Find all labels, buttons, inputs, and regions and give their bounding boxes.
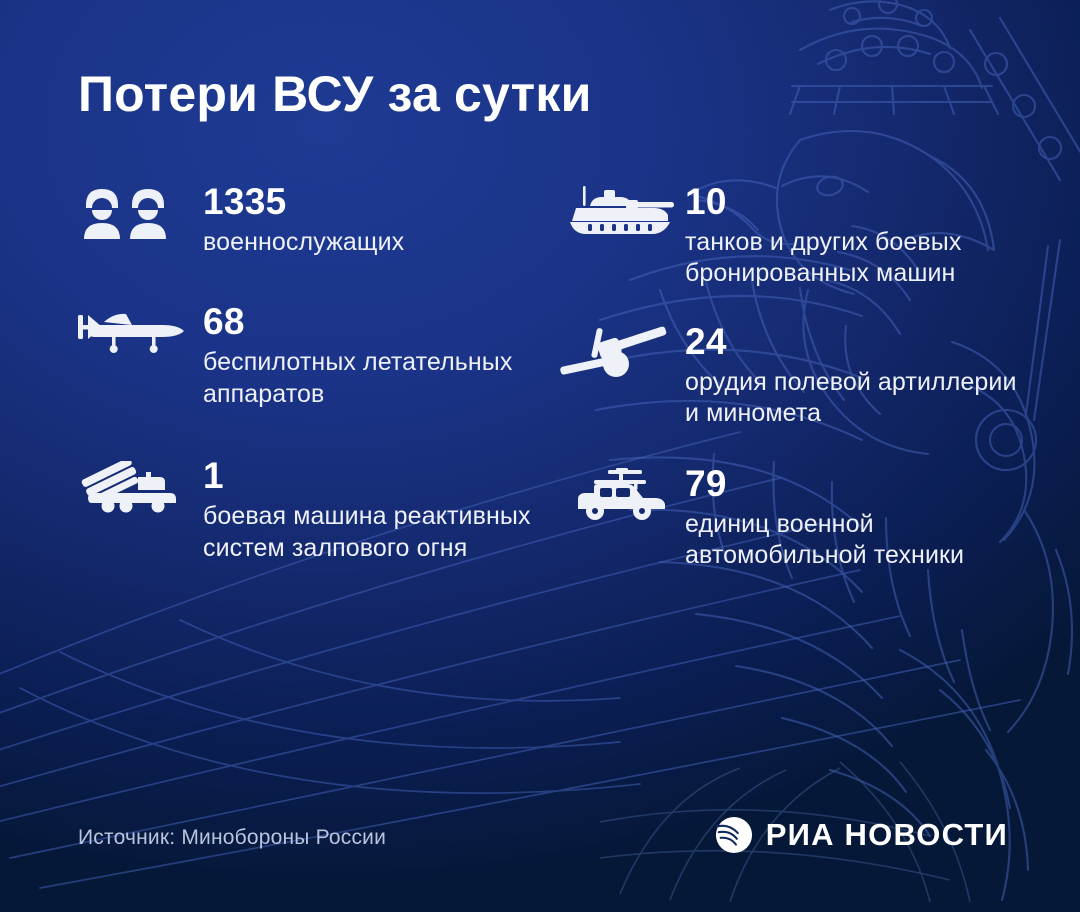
stat-label: военнослужащих	[203, 227, 548, 259]
page-title: Потери ВСУ за сутки	[78, 66, 592, 122]
stat-item-personnel: 1335 военнослужащих	[78, 182, 548, 258]
left-stats-column: 1335 военнослужащих	[78, 182, 548, 564]
field-gun-icon	[560, 322, 685, 384]
stat-value: 24	[685, 322, 1030, 362]
mlrs-icon	[78, 456, 203, 518]
stat-item-vehicles: 79 единиц военной автомобильной техники	[560, 464, 1030, 572]
infographic-poster: Потери ВСУ за сутки	[0, 0, 1080, 912]
stat-label: боевая машина реактивных систем залповог…	[203, 501, 548, 564]
brand-name: РИА НОВОСТИ	[766, 817, 1008, 853]
stat-value: 1	[203, 456, 548, 496]
drone-icon	[78, 302, 203, 364]
brand-logo: РИА НОВОСТИ	[715, 816, 1008, 854]
stat-label: единиц военной автомобильной техники	[685, 509, 1030, 572]
stat-value: 1335	[203, 182, 548, 222]
stat-item-mlrs: 1 боевая машина реактивных систем залпов…	[78, 456, 548, 564]
right-stats-column: 10 танков и других боевых бронированных …	[560, 182, 1030, 572]
ria-swirl-icon	[715, 816, 753, 854]
tank-icon	[560, 182, 685, 244]
military-truck-icon	[560, 464, 685, 526]
stat-value: 68	[203, 302, 548, 342]
source-credit: Источник: Минобороны России	[78, 826, 386, 850]
stat-value: 79	[685, 464, 1030, 504]
two-soldiers-icon	[78, 182, 203, 244]
stat-label: танков и других боевых бронированных маш…	[685, 227, 1030, 290]
stat-item-drones: 68 беспилотных летательных аппаратов	[78, 302, 548, 410]
stat-label: орудия полевой артиллерии и миномета	[685, 367, 1030, 430]
stat-label: беспилотных летательных аппаратов	[203, 347, 548, 410]
stat-item-tanks: 10 танков и других боевых бронированных …	[560, 182, 1030, 290]
stat-value: 10	[685, 182, 1030, 222]
stat-item-artillery: 24 орудия полевой артиллерии и миномета	[560, 322, 1030, 430]
